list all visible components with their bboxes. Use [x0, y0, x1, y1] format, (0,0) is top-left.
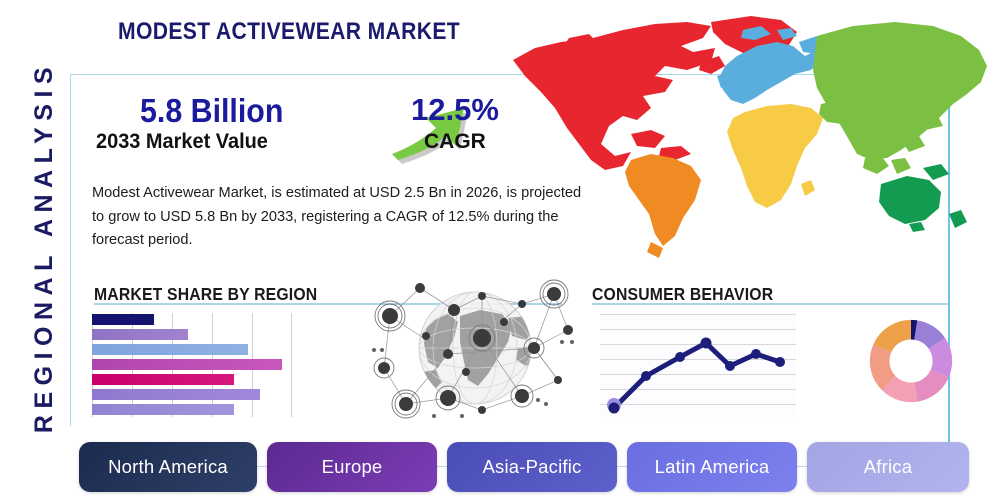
table-row: [92, 329, 188, 340]
region-button-europe[interactable]: Europe: [267, 442, 437, 492]
kpi-block: 5.8 Billion 2033 Market Value 12.5% CAGR: [86, 92, 516, 164]
region-button-africa[interactable]: Africa: [807, 442, 969, 492]
region-button-label: Europe: [322, 456, 383, 478]
market-share-heading: MARKET SHARE BY REGION: [94, 284, 317, 305]
region-button-label: Asia-Pacific: [482, 456, 581, 478]
table-row: [92, 359, 282, 370]
market-share-bar-chart: [92, 313, 292, 417]
consumer-behavior-line-chart: [600, 310, 796, 418]
page-title: MODEST ACTIVEWEAR MARKET: [118, 18, 460, 46]
region-button-label: Africa: [864, 456, 913, 478]
region-button-latin-america[interactable]: Latin America: [627, 442, 797, 492]
globe-network-icon: [362, 276, 588, 424]
table-row: [92, 389, 260, 400]
table-row: [92, 314, 154, 325]
vertical-section-label: REGIONAL ANALYSIS: [24, 37, 64, 457]
market-value-caption: 2033 Market Value: [96, 130, 268, 154]
cagr-caption: CAGR: [424, 130, 486, 154]
region-button-asia-pacific[interactable]: Asia-Pacific: [447, 442, 617, 492]
region-button-label: Latin America: [655, 456, 770, 478]
consumer-behavior-heading: CONSUMER BEHAVIOR: [592, 284, 773, 305]
table-row: [92, 404, 234, 415]
table-row: [92, 374, 234, 385]
market-value-number: 5.8 Billion: [140, 92, 283, 130]
market-segment-donut-chart: [862, 311, 960, 411]
description-text: Modest Activewear Market, is estimated a…: [92, 182, 582, 253]
cagr-number: 12.5%: [411, 92, 499, 128]
infographic-root: REGIONAL ANALYSIS MODEST ACTIVEWEAR MARK…: [0, 0, 1000, 500]
consumer-behavior-rule: [592, 303, 948, 305]
region-button-label: North America: [108, 456, 228, 478]
region-button-group: North America Europe Asia-Pacific Latin …: [79, 442, 949, 492]
region-button-north-america[interactable]: North America: [79, 442, 257, 492]
table-row: [92, 344, 248, 355]
